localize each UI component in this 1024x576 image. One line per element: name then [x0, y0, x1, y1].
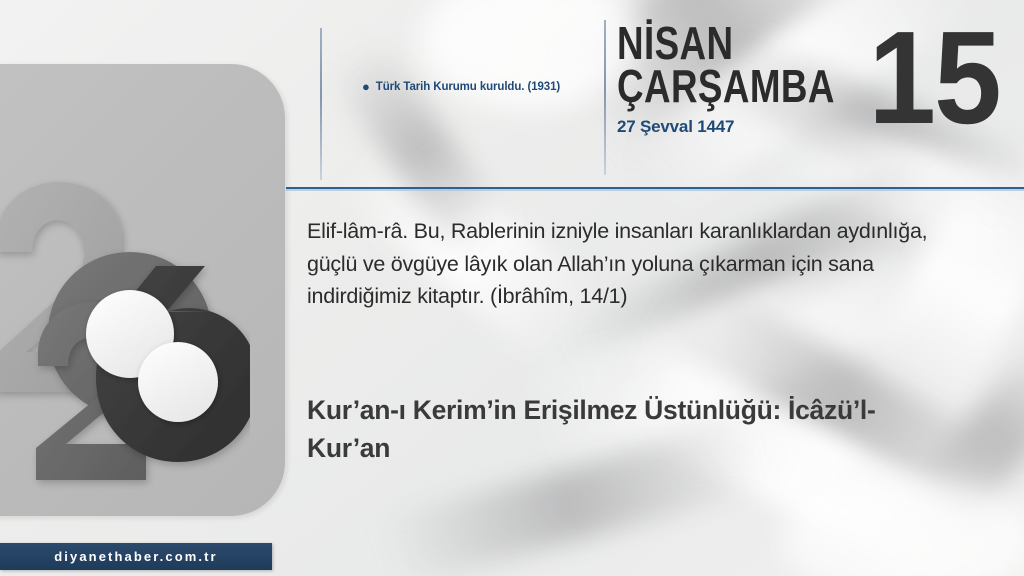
vertical-rule-left — [320, 28, 322, 180]
historical-note: ● Türk Tarih Kurumu kuruldu. (1931) — [362, 80, 592, 95]
historical-note-text: Türk Tarih Kurumu kuruldu. (1931) — [376, 80, 560, 95]
calendar-page: ● Türk Tarih Kurumu kuruldu. (1931) NİSA… — [0, 0, 1024, 576]
day-number: 15 — [869, 12, 1000, 144]
vertical-rule-date — [604, 20, 606, 175]
month-label: NİSAN — [617, 22, 817, 65]
hijri-date-label: 27 Şevval 1447 — [617, 117, 867, 137]
weekday-label: ÇARŞAMBA — [617, 65, 817, 108]
date-block: NİSAN ÇARŞAMBA 27 Şevval 1447 — [617, 22, 867, 137]
site-url-bar[interactable]: diyanethaber.com.tr — [0, 543, 272, 570]
logo-circle-lower — [138, 342, 218, 422]
quran-verse-text: Elif-lâm-râ. Bu, Rablerinin izniyle insa… — [307, 215, 967, 313]
year-logo-2026 — [0, 164, 250, 494]
horizontal-rule-divider — [286, 187, 1024, 189]
bullet-dot-icon: ● — [362, 80, 370, 94]
logo-panel — [0, 64, 285, 516]
article-title: Kur’an-ı Kerim’in Erişilmez Üstünlüğü: İ… — [307, 392, 952, 467]
site-url-text: diyanethaber.com.tr — [54, 549, 217, 564]
